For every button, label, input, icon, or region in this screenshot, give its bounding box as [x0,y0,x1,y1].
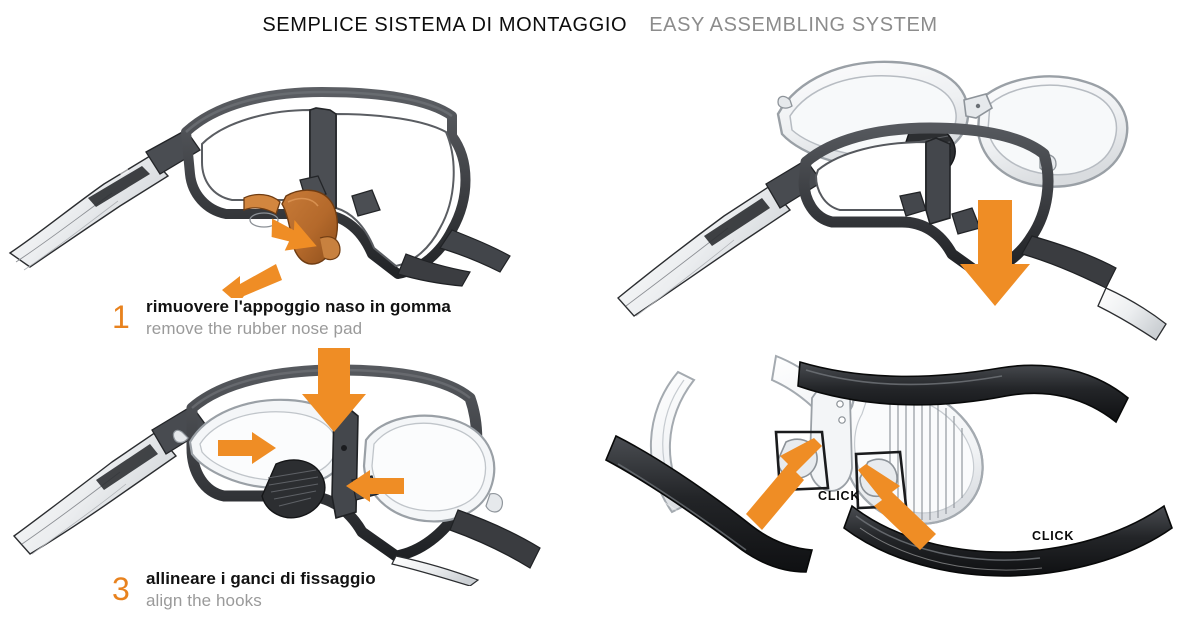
title-english: EASY ASSEMBLING SYSTEM [649,14,937,36]
title-italian: SEMPLICE SISTEMA DI MONTAGGIO [262,14,627,36]
click-label-left: CLICK [818,489,860,503]
caption-italian-3: allineare i ganci di fissaggio [146,569,376,588]
step-panel-3: 3 allineare i ganci di fissaggio align t… [0,336,600,632]
frame-hook-right [952,208,980,234]
step-number-3: 3 [112,568,146,605]
caption-step-3: 3 allineare i ganci di fissaggio align t… [112,568,376,612]
temple-arm-right [1022,236,1116,288]
lens-aperture-right [336,114,454,266]
caption-italian-1: rimuovere l'appoggio naso in gomma [146,297,451,316]
illustration-step-2 [600,48,1200,298]
click-label-right: CLICK [1032,529,1074,543]
caption-step-1: 1 rimuovere l'appoggio naso in gomma rem… [112,296,451,340]
nose-bridge [926,138,950,224]
step-number-1: 1 [112,296,146,333]
lens-aperture-left [202,110,310,200]
temple-arm-right [450,510,540,568]
illustration-step-4: CLICK CLICK [600,336,1200,586]
caption-english-3: align the hooks [146,591,262,610]
step-panel-4: CLICK CLICK 4 premere per agganciare il … [600,336,1200,632]
step-panel-1: 1 rimuovere l'appoggio naso in gomma rem… [0,48,600,344]
infographic-page: SEMPLICE SISTEMA DI MONTAGGIOEASY ASSEMB… [0,0,1200,632]
illustration-step-1 [0,48,600,298]
page-title: SEMPLICE SISTEMA DI MONTAGGIOEASY ASSEMB… [0,14,1200,37]
illustration-step-3 [0,336,600,586]
step-panel-2: 2 posizionare il clip optik place the cl… [600,48,1200,344]
